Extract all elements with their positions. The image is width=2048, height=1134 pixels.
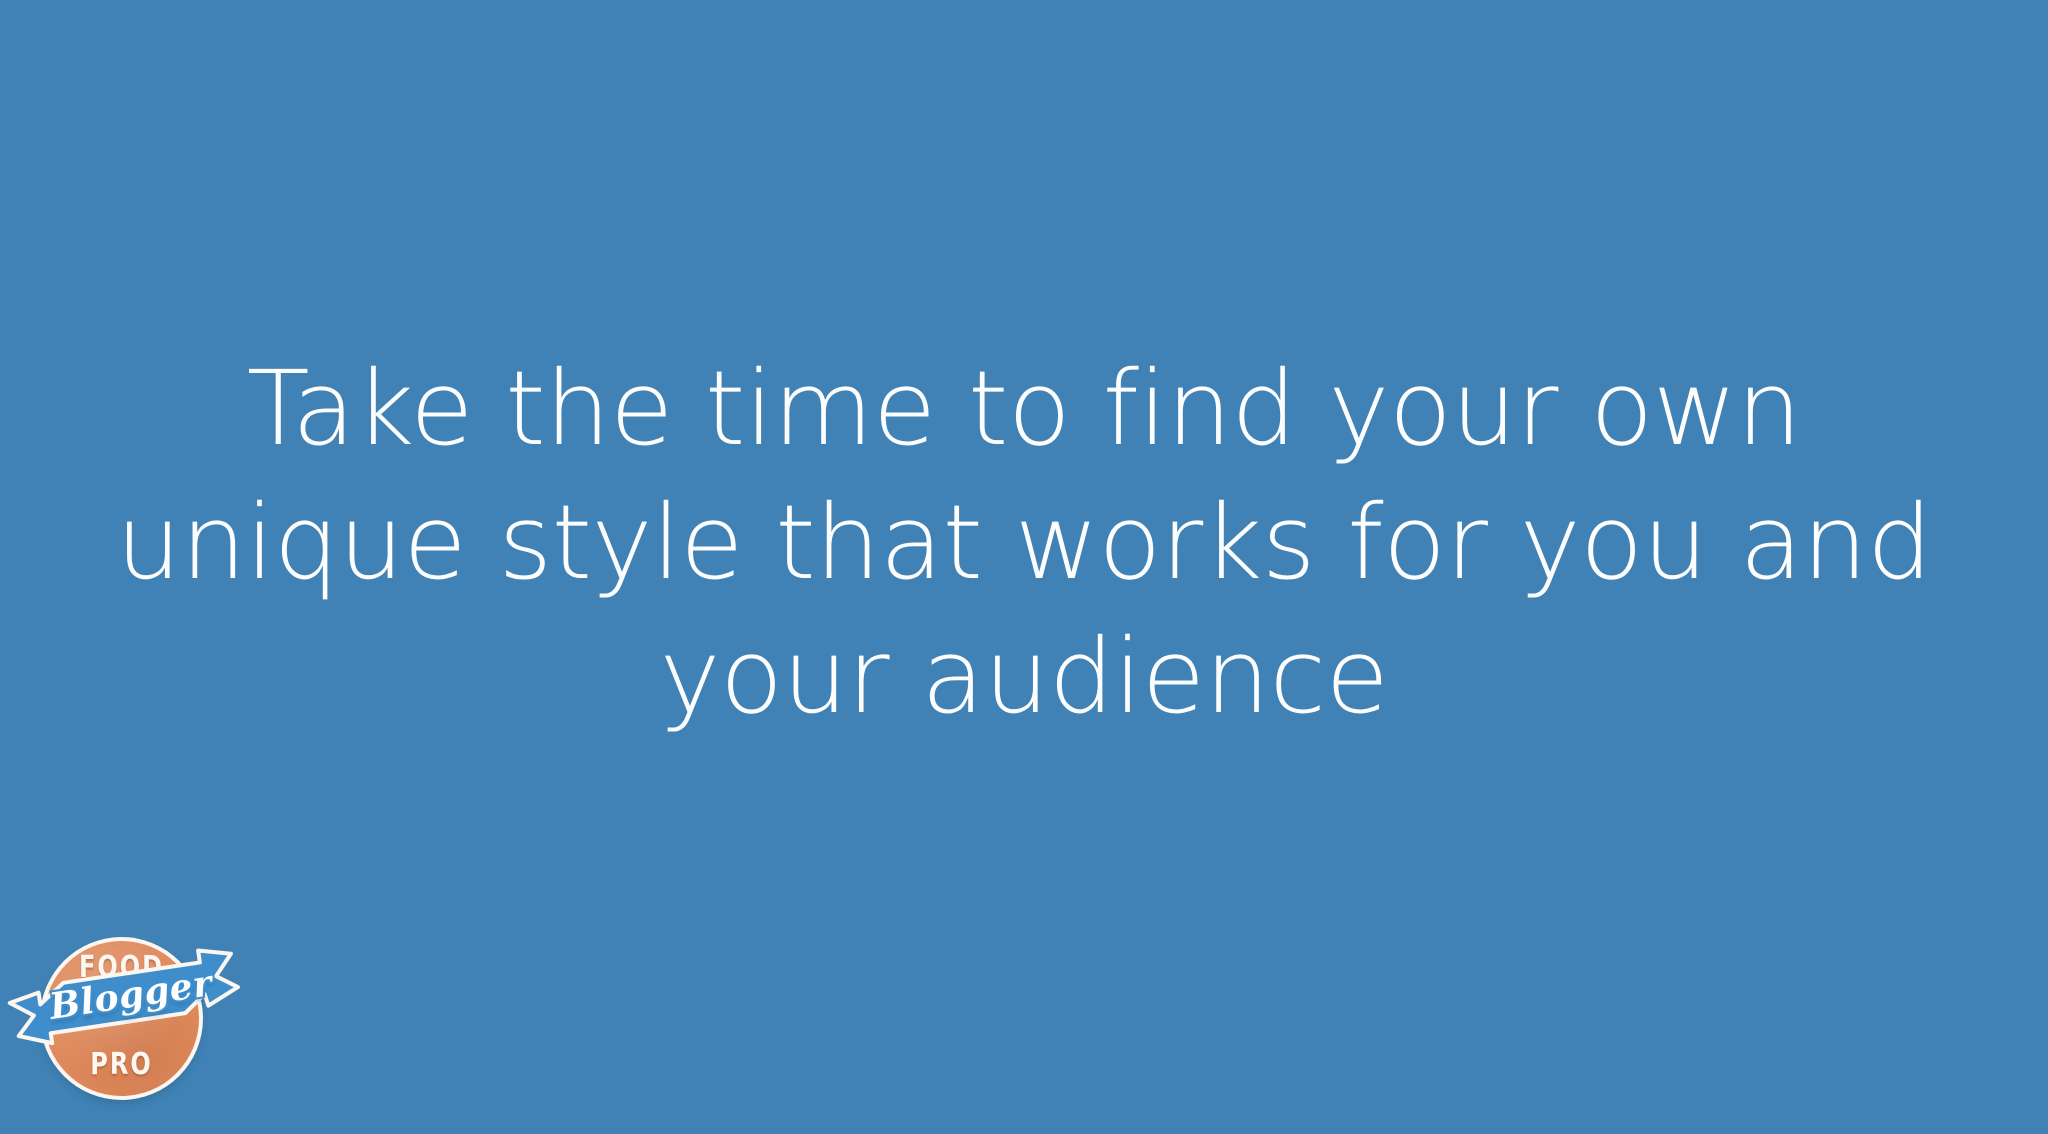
quote-container: Take the time to find your own unique st… xyxy=(0,0,2048,1134)
quote-line-1: Take the time to find your own xyxy=(114,342,1934,476)
quote-line-3: your audience xyxy=(114,610,1934,744)
logo-word-pro: PRO xyxy=(60,1050,184,1080)
quote-line-2: unique style that works for you and xyxy=(114,476,1934,610)
food-blogger-pro-logo: FOOD PRO Blogger xyxy=(0,905,250,1130)
slide-canvas: Take the time to find your own unique st… xyxy=(0,0,2048,1134)
quote-text: Take the time to find your own unique st… xyxy=(114,342,1934,744)
